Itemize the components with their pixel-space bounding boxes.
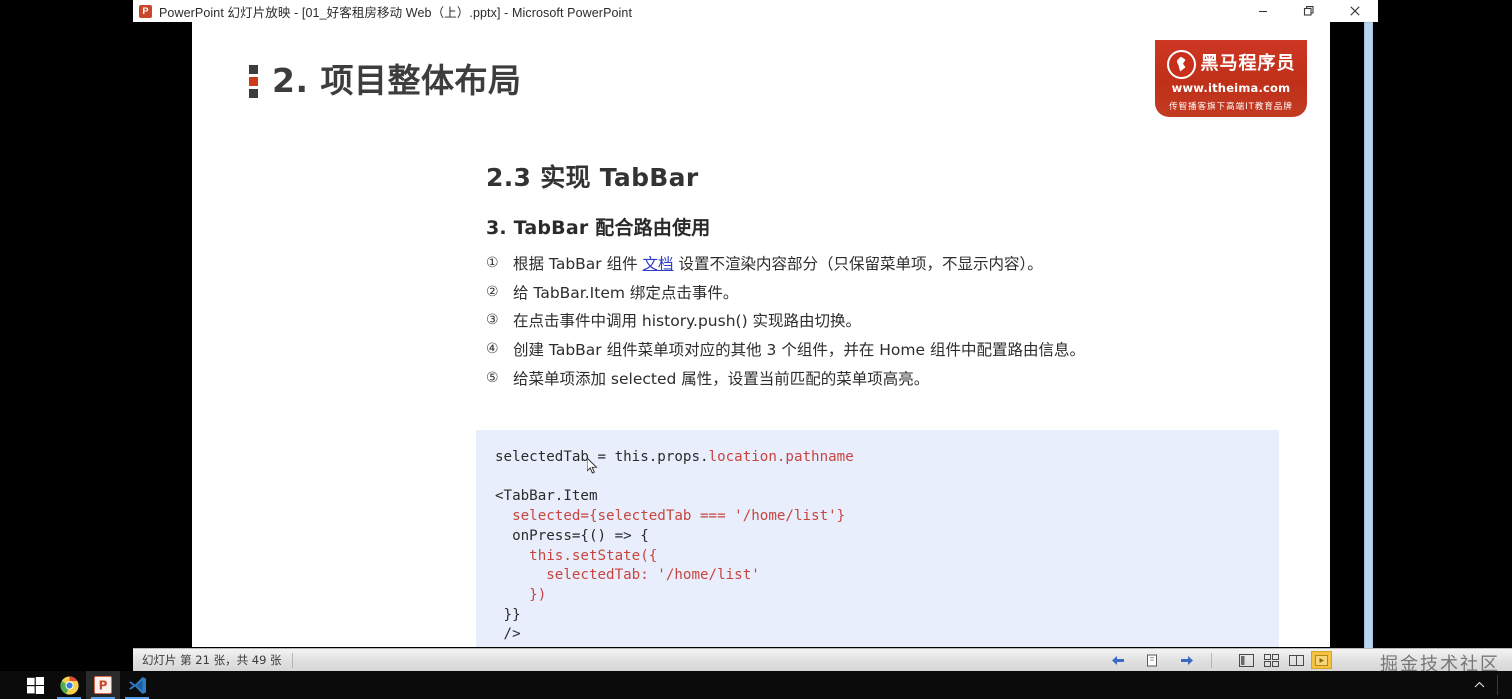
code-block: selectedTab = this.props.location.pathna… <box>476 430 1279 647</box>
powerpoint-window: P PowerPoint 幻灯片放映 - [01_好客租房移动 Web（上）.p… <box>133 0 1378 670</box>
svg-text:P: P <box>99 679 108 693</box>
list-item: ② 给 TabBar.Item 绑定点击事件。 <box>486 283 1276 303</box>
code-token-highlight: location.pathname <box>709 449 854 465</box>
view-buttons <box>1236 651 1332 669</box>
windows-start-icon[interactable] <box>18 671 52 699</box>
code-line: }) <box>495 587 546 603</box>
next-arrow-icon[interactable] <box>1169 649 1203 671</box>
code-line: onPress={() => { <box>495 528 649 544</box>
slide-counter: 幻灯片 第 21 张，共 49 张 <box>133 652 282 668</box>
list-item-text: 根据 TabBar 组件 文档 设置不渲染内容部分（只保留菜单项，不显示内容）。 <box>513 254 1043 274</box>
vscode-icon[interactable] <box>120 671 154 699</box>
normal-view-icon[interactable] <box>1236 651 1257 669</box>
code-line: selectedTab = this.props. <box>495 449 709 465</box>
desktop: P PowerPoint 幻灯片放映 - [01_好客租房移动 Web（上）.p… <box>0 0 1512 699</box>
window-scrollbar[interactable] <box>1364 22 1373 670</box>
brand-row: 黑马程序员 <box>1167 50 1296 79</box>
close-icon[interactable] <box>1332 0 1378 22</box>
slide-subtitle: 2.3 实现 TabBar <box>486 158 698 194</box>
brand-tagline: 传智播客旗下高端IT教育品牌 <box>1169 100 1293 112</box>
list-item-number: ⑤ <box>486 369 513 387</box>
brand-logo: 黑马程序员 www.itheima.com 传智播客旗下高端IT教育品牌 <box>1155 40 1307 117</box>
list-item: ① 根据 TabBar 组件 文档 设置不渲染内容部分（只保留菜单项，不显示内容… <box>486 254 1276 274</box>
window-titlebar[interactable]: P PowerPoint 幻灯片放映 - [01_好客租房移动 Web（上）.p… <box>133 0 1378 22</box>
horse-logo-icon <box>1167 50 1196 79</box>
code-line: <TabBar.Item <box>495 488 598 504</box>
code-line: selectedTab: '/home/list' <box>495 567 760 583</box>
slideshow-view-icon[interactable] <box>1311 651 1332 669</box>
list-item-prefix: 根据 TabBar 组件 <box>513 255 643 273</box>
window-controls <box>1240 0 1378 22</box>
powerpoint-icon: P <box>139 5 152 18</box>
slide-section-heading: 3. TabBar 配合路由使用 <box>486 213 710 240</box>
chrome-icon[interactable] <box>52 671 86 699</box>
list-item-suffix: 设置不渲染内容部分（只保留菜单项，不显示内容）。 <box>674 255 1043 273</box>
minimize-icon[interactable] <box>1240 0 1286 22</box>
bullet-list: ① 根据 TabBar 组件 文档 设置不渲染内容部分（只保留菜单项，不显示内容… <box>486 254 1276 397</box>
pointer-icon[interactable] <box>1135 649 1169 671</box>
code-line: this.setState({ <box>495 548 657 564</box>
slide-title-row: 2. 项目整体布局 <box>249 62 522 98</box>
restore-icon[interactable] <box>1286 0 1332 22</box>
system-tray <box>1465 671 1512 699</box>
title-bullet-icon <box>249 65 258 98</box>
page-title: 2. 项目整体布局 <box>272 64 522 97</box>
slide-canvas[interactable]: 黑马程序员 www.itheima.com 传智播客旗下高端IT教育品牌 2. … <box>192 22 1330 647</box>
slideshow-backdrop: 黑马程序员 www.itheima.com 传智播客旗下高端IT教育品牌 2. … <box>133 22 1378 670</box>
brand-url: www.itheima.com <box>1172 81 1291 95</box>
list-item-text: 创建 TabBar 组件菜单项对应的其他 3 个组件，并在 Home 组件中配置… <box>513 340 1085 360</box>
list-item-text: 给 TabBar.Item 绑定点击事件。 <box>513 283 738 303</box>
list-item-text: 给菜单项添加 selected 属性，设置当前匹配的菜单项高亮。 <box>513 369 929 389</box>
list-item-number: ④ <box>486 340 513 358</box>
sorter-view-icon[interactable] <box>1261 651 1282 669</box>
prev-arrow-icon[interactable] <box>1101 649 1135 671</box>
code-line: selected={selectedTab === '/home/list'} <box>495 508 845 524</box>
window-scrollbar-thumb[interactable] <box>1364 22 1373 662</box>
code-line: /> <box>495 626 521 642</box>
window-title: PowerPoint 幻灯片放映 - [01_好客租房移动 Web（上）.ppt… <box>159 2 632 21</box>
status-divider <box>292 653 293 668</box>
chevron-up-icon[interactable] <box>1465 671 1493 699</box>
list-item-number: ③ <box>486 311 513 329</box>
list-item-number: ① <box>486 254 513 272</box>
reading-view-icon[interactable] <box>1286 651 1307 669</box>
status-bar: 幻灯片 第 21 张，共 49 张 <box>133 648 1512 671</box>
list-item-text: 在点击事件中调用 history.push() 实现路由切换。 <box>513 311 861 331</box>
code-line: }} <box>495 607 521 623</box>
list-item-number: ② <box>486 283 513 301</box>
powerpoint-icon[interactable]: P <box>86 671 120 699</box>
list-item: ④ 创建 TabBar 组件菜单项对应的其他 3 个组件，并在 Home 组件中… <box>486 340 1276 360</box>
list-item: ③ 在点击事件中调用 history.push() 实现路由切换。 <box>486 311 1276 331</box>
doc-link[interactable]: 文档 <box>643 255 674 273</box>
brand-name: 黑马程序员 <box>1201 55 1296 73</box>
status-divider-2 <box>1211 653 1212 668</box>
list-item: ⑤ 给菜单项添加 selected 属性，设置当前匹配的菜单项高亮。 <box>486 369 1276 389</box>
tray-divider <box>1497 675 1498 695</box>
taskbar: P <box>0 671 1512 699</box>
